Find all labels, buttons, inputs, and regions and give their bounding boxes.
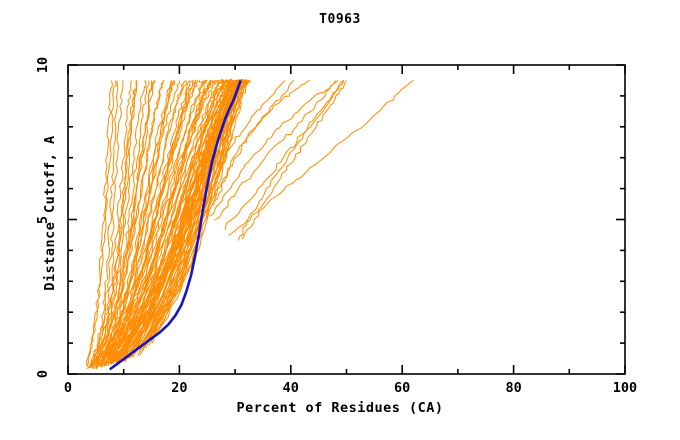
y-tick-label: 10 (35, 50, 51, 80)
data-curves (86, 79, 413, 369)
chart-root: T0963 Percent of Residues (CA) Distance … (0, 0, 680, 440)
y-tick-label: 5 (35, 205, 51, 235)
plot-area (0, 0, 680, 440)
x-tick-label: 60 (382, 380, 422, 396)
prediction-curve (242, 80, 346, 239)
prediction-curve (229, 80, 413, 235)
x-tick-label: 80 (494, 380, 534, 396)
prediction-curve (87, 80, 118, 368)
x-tick-label: 100 (605, 380, 645, 396)
x-tick-label: 20 (159, 380, 199, 396)
x-axis-label: Percent of Residues (CA) (0, 400, 680, 416)
x-tick-label: 40 (271, 380, 311, 396)
x-tick-label: 0 (48, 380, 88, 396)
prediction-curve (238, 80, 343, 240)
y-tick-label: 0 (35, 359, 51, 389)
